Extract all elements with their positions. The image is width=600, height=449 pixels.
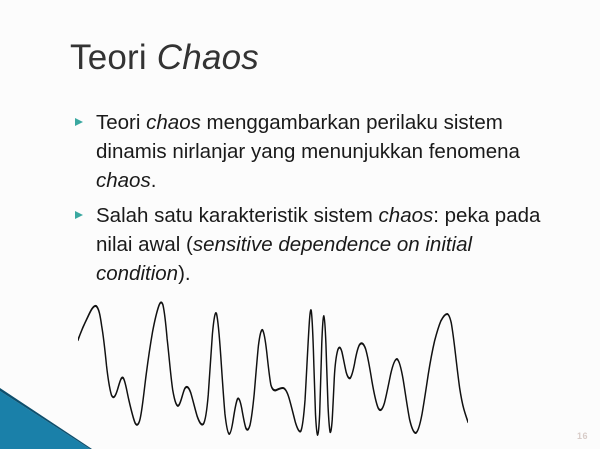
seg-3: chaos bbox=[96, 169, 151, 192]
seg-1: chaos bbox=[379, 204, 434, 227]
seg-4: . bbox=[151, 169, 157, 192]
list-item: Salah satu karakteristik sistem chaos: p… bbox=[74, 201, 546, 288]
list-item: Teori chaos menggambarkan perilaku siste… bbox=[74, 108, 546, 195]
page-title-plain: Teori bbox=[70, 38, 157, 77]
seg-1: chaos bbox=[146, 111, 201, 134]
waveform-line bbox=[78, 302, 468, 435]
seg-0: Salah satu karakteristik sistem bbox=[96, 204, 379, 227]
page-number: 16 bbox=[577, 431, 588, 441]
bullet-list: Teori chaos menggambarkan perilaku siste… bbox=[74, 108, 546, 294]
chaotic-time-series-waveform bbox=[78, 292, 468, 449]
triangle-bullet-icon bbox=[74, 201, 96, 220]
page-title-italic: Chaos bbox=[157, 38, 259, 77]
seg-4: ). bbox=[178, 262, 191, 285]
list-item-text: Teori chaos menggambarkan perilaku siste… bbox=[96, 108, 546, 195]
list-item-text: Salah satu karakteristik sistem chaos: p… bbox=[96, 201, 546, 288]
page-title: Teori Chaos bbox=[70, 38, 259, 78]
triangle-bullet-icon bbox=[74, 108, 96, 127]
slide: Teori Chaos Teori chaos menggambarkan pe… bbox=[0, 0, 600, 449]
seg-0: Teori bbox=[96, 111, 146, 134]
